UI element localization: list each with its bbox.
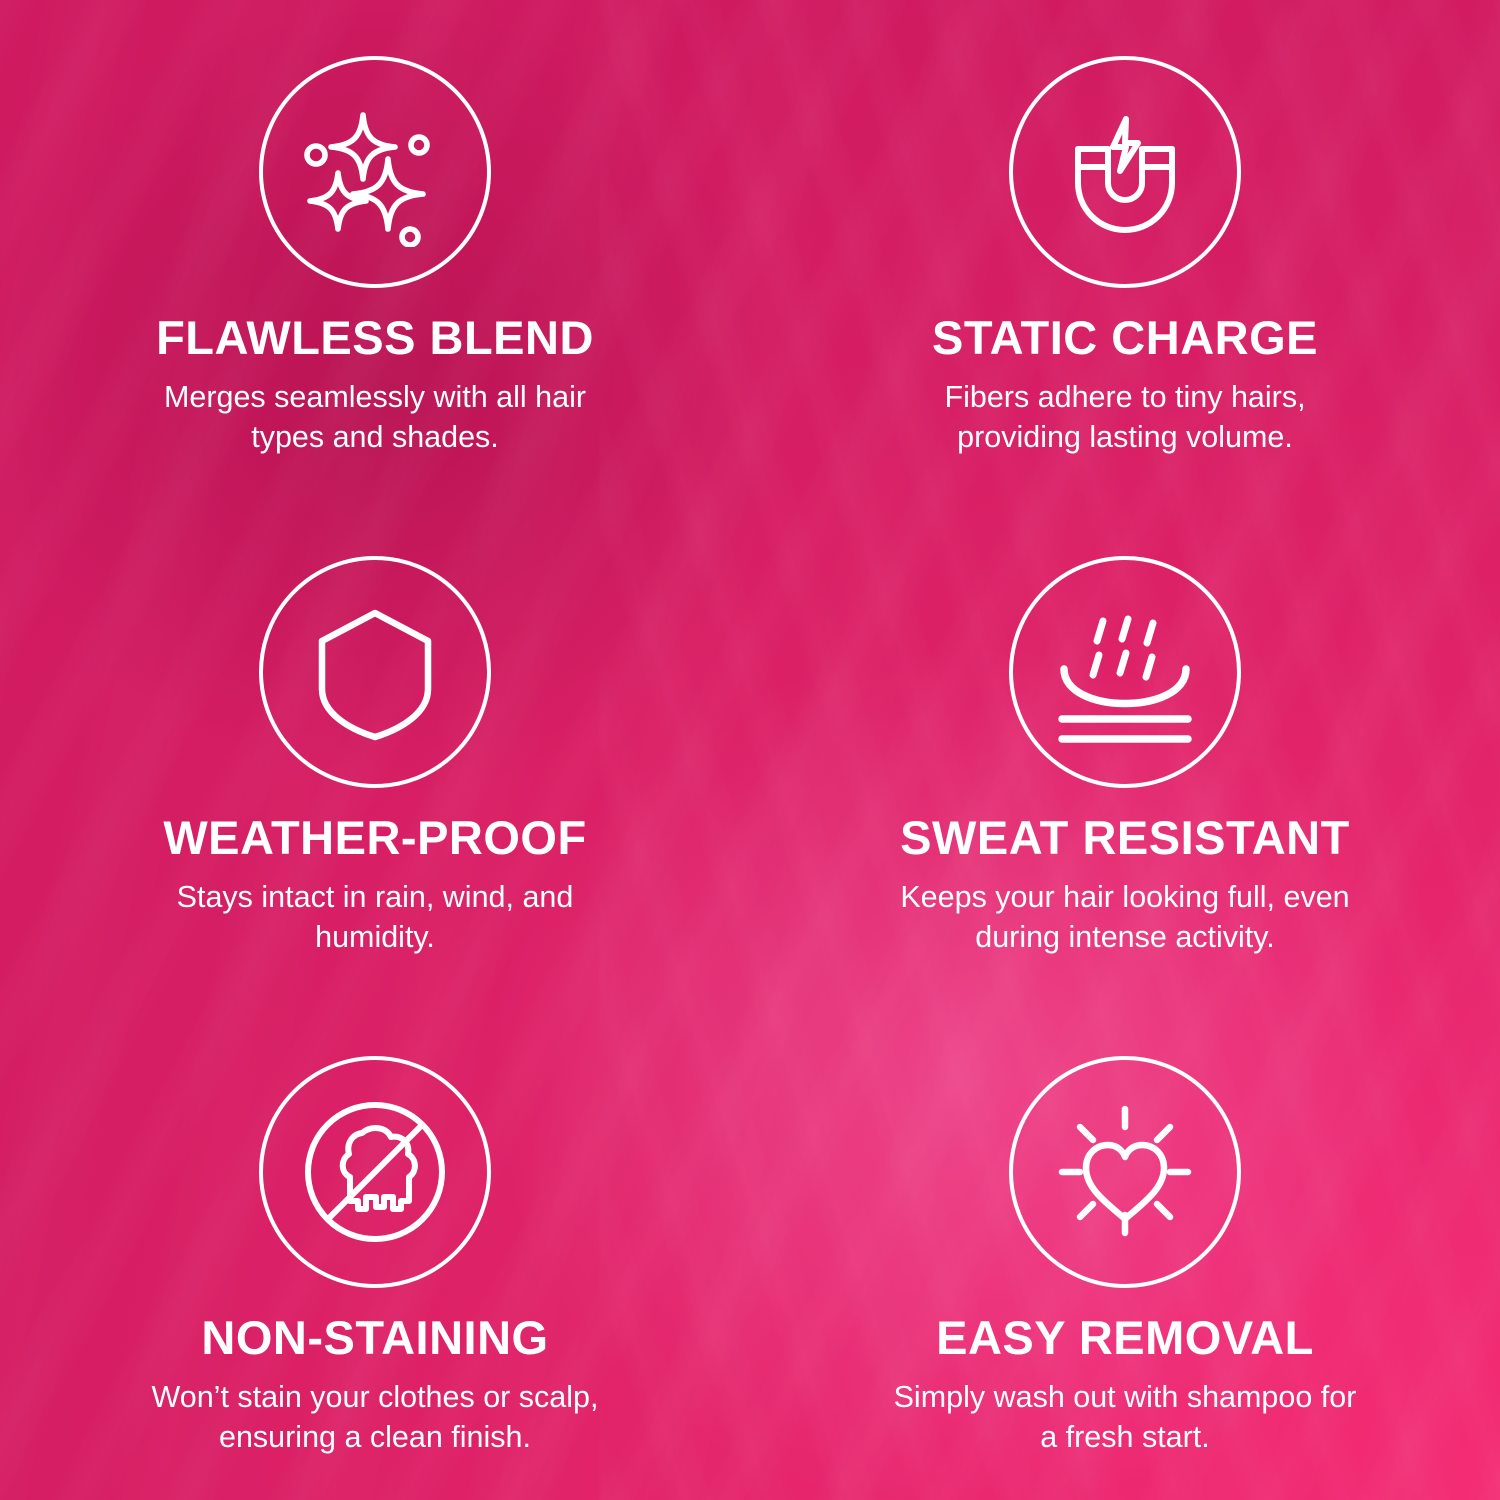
sparkles-icon <box>300 97 450 247</box>
icon-badge <box>1009 56 1241 288</box>
feature-card-flawless-blend: FLAWLESS BLEND Merges seamlessly with al… <box>0 0 750 500</box>
feature-card-static-charge: STATIC CHARGE Fibers adhere to tiny hair… <box>750 0 1500 500</box>
feature-title: NON-STAINING <box>201 1314 548 1363</box>
heart-shine-icon <box>1050 1097 1200 1247</box>
features-grid: FLAWLESS BLEND Merges seamlessly with al… <box>0 0 1500 1500</box>
feature-description: Won’t stain your clothes or scalp, ensur… <box>140 1377 610 1458</box>
icon-badge <box>259 1056 491 1288</box>
feature-card-weather-proof: WEATHER-PROOF Stays intact in rain, wind… <box>0 500 750 1000</box>
magnet-static-charge-icon <box>1050 97 1200 247</box>
feature-description: Stays intact in rain, wind, and humidity… <box>140 877 610 958</box>
feature-title: WEATHER-PROOF <box>163 814 586 863</box>
no-stain-icon <box>300 1097 450 1247</box>
icon-badge <box>259 556 491 788</box>
feature-title: FLAWLESS BLEND <box>156 314 594 363</box>
feature-title: EASY REMOVAL <box>936 1314 1314 1363</box>
feature-title: SWEAT RESISTANT <box>900 814 1350 863</box>
shield-icon <box>300 597 450 747</box>
feature-title: STATIC CHARGE <box>932 314 1318 363</box>
icon-badge <box>259 56 491 288</box>
feature-description: Simply wash out with shampoo for a fresh… <box>890 1377 1360 1458</box>
water-repellent-surface-icon <box>1050 597 1200 747</box>
feature-card-sweat-resistant: SWEAT RESISTANT Keeps your hair looking … <box>750 500 1500 1000</box>
feature-grid-poster: FLAWLESS BLEND Merges seamlessly with al… <box>0 0 1500 1500</box>
icon-badge <box>1009 1056 1241 1288</box>
feature-card-easy-removal: EASY REMOVAL Simply wash out with shampo… <box>750 1000 1500 1500</box>
feature-description: Merges seamlessly with all hair types an… <box>140 377 610 458</box>
icon-badge <box>1009 556 1241 788</box>
feature-description: Keeps your hair looking full, even durin… <box>890 877 1360 958</box>
feature-description: Fibers adhere to tiny hairs, providing l… <box>890 377 1360 458</box>
feature-card-non-staining: NON-STAINING Won’t stain your clothes or… <box>0 1000 750 1500</box>
